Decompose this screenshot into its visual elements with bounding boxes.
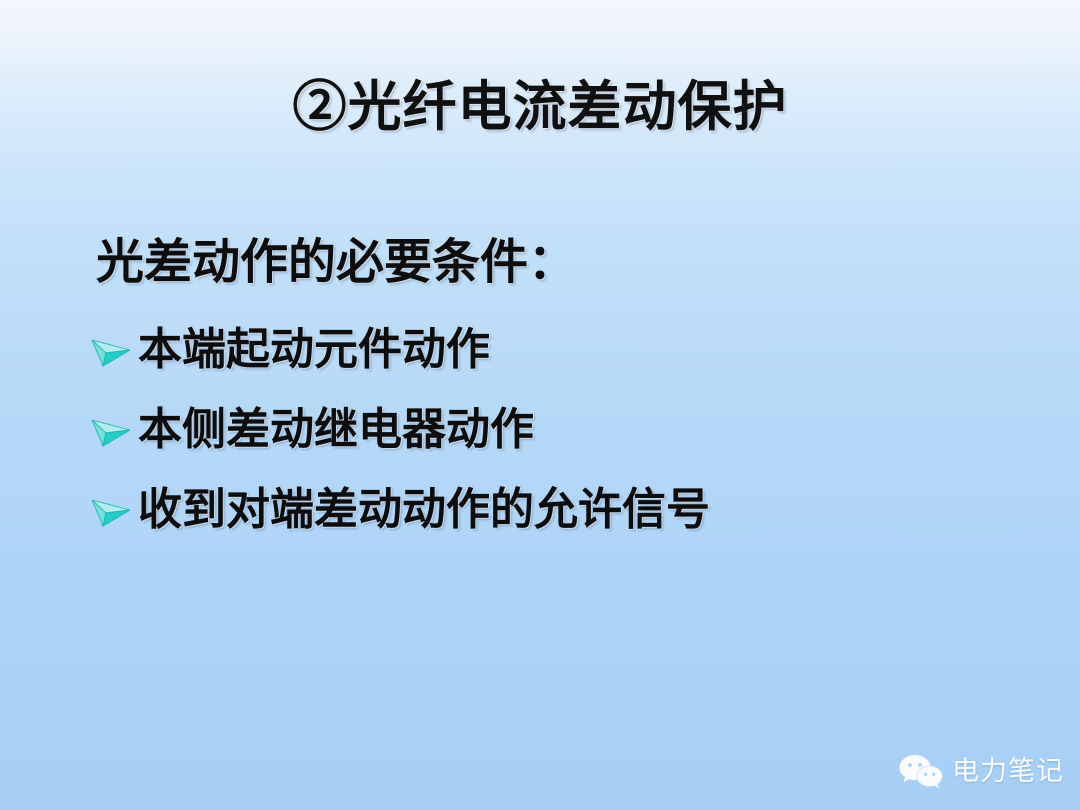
- page-title: ②光纤电流差动保护: [0, 74, 1080, 138]
- watermark: 电力笔记: [898, 752, 1064, 792]
- list-item-label: 本侧差动继电器动作: [138, 404, 534, 456]
- list-item: 本侧差动继电器动作: [90, 390, 1030, 470]
- bullet-list: 本端起动元件动作 本侧差动继电器动作: [90, 310, 1030, 550]
- list-item: 收到对端差动动作的允许信号: [90, 470, 1030, 550]
- list-item-label: 本端起动元件动作: [138, 324, 490, 376]
- arrowhead-bullet-icon: [90, 488, 132, 532]
- wechat-logo-icon: [898, 752, 944, 792]
- watermark-label: 电力笔记: [952, 757, 1064, 787]
- list-item: 本端起动元件动作: [90, 310, 1030, 390]
- body-subheading: 光差动作的必要条件：: [96, 232, 1030, 292]
- arrowhead-bullet-icon: [90, 408, 132, 452]
- slide-body: 光差动作的必要条件： 本端起动元件动作: [90, 232, 1030, 550]
- arrowhead-bullet-icon: [90, 328, 132, 372]
- list-item-label: 收到对端差动动作的允许信号: [138, 484, 710, 536]
- slide-canvas: ②光纤电流差动保护 光差动作的必要条件： 本端起动元件动作: [0, 0, 1080, 810]
